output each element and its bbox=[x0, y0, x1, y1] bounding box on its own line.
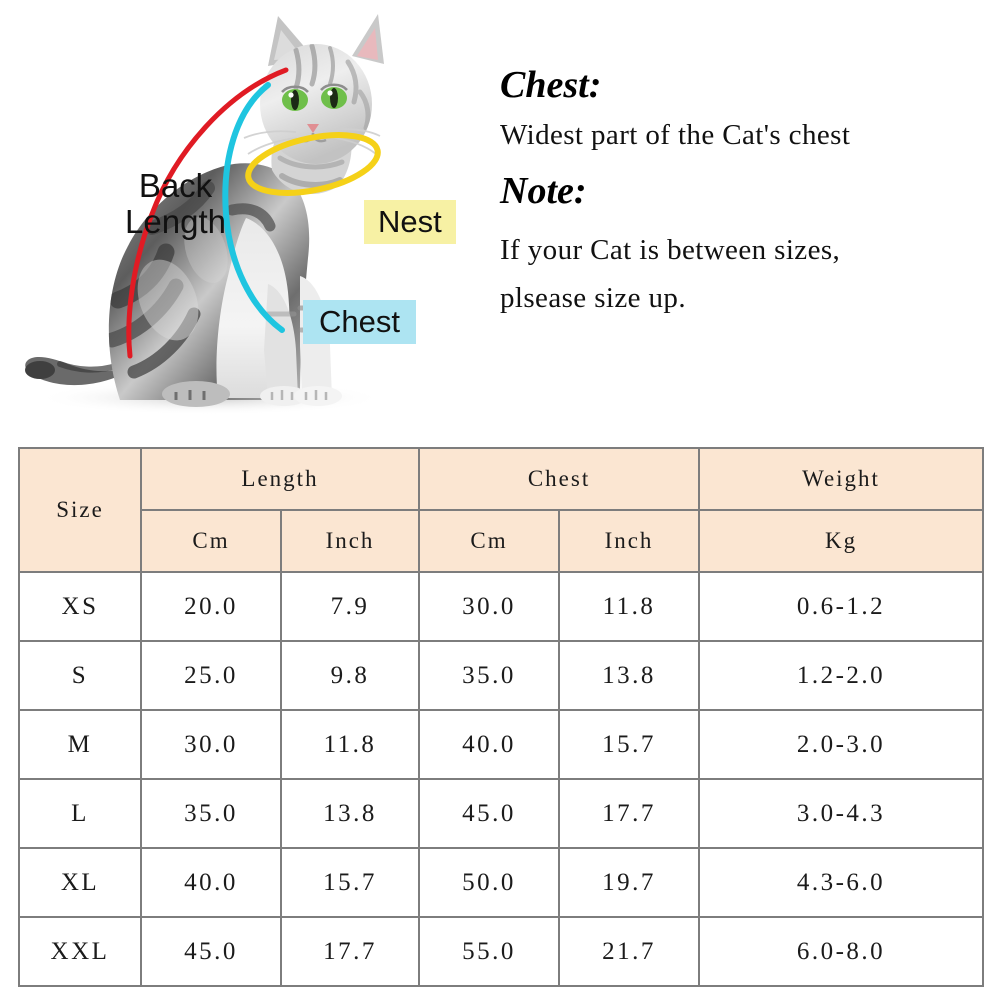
measurement-diagram-panel: Back Length Nest Chest Chest: Widest par… bbox=[0, 0, 1000, 435]
cell-length-inch: 11.8 bbox=[281, 710, 419, 779]
cell-size: XS bbox=[19, 572, 141, 641]
header-length-cm: Cm bbox=[141, 510, 281, 572]
label-back-length: Back Length bbox=[88, 168, 263, 239]
table-row: XS20.07.930.011.80.6-1.2 bbox=[19, 572, 983, 641]
cell-chest-cm: 45.0 bbox=[419, 779, 559, 848]
cell-weight-kg: 6.0-8.0 bbox=[699, 917, 983, 986]
table-header-row-units: Cm Inch Cm Inch Kg bbox=[19, 510, 983, 572]
table-body: XS20.07.930.011.80.6-1.2S25.09.835.013.8… bbox=[19, 572, 983, 986]
chest-description: Widest part of the Cat's chest bbox=[500, 114, 990, 156]
cell-chest-cm: 30.0 bbox=[419, 572, 559, 641]
header-weight-kg: Kg bbox=[699, 510, 983, 572]
cell-chest-cm: 55.0 bbox=[419, 917, 559, 986]
header-chest-inch: Inch bbox=[559, 510, 699, 572]
cell-weight-kg: 3.0-4.3 bbox=[699, 779, 983, 848]
cell-size: XL bbox=[19, 848, 141, 917]
cell-chest-inch: 11.8 bbox=[559, 572, 699, 641]
header-length: Length bbox=[141, 448, 419, 510]
back-length-line-2: Length bbox=[88, 204, 263, 240]
cell-length-inch: 7.9 bbox=[281, 572, 419, 641]
header-size: Size bbox=[19, 448, 141, 572]
table-row: S25.09.835.013.81.2-2.0 bbox=[19, 641, 983, 710]
table-header-row-groups: Size Length Chest Weight bbox=[19, 448, 983, 510]
cell-chest-inch: 13.8 bbox=[559, 641, 699, 710]
table-row: L35.013.845.017.73.0-4.3 bbox=[19, 779, 983, 848]
note-heading: Note: bbox=[500, 168, 990, 216]
table-row: XXL45.017.755.021.76.0-8.0 bbox=[19, 917, 983, 986]
table-head: Size Length Chest Weight Cm Inch Cm Inch… bbox=[19, 448, 983, 572]
cell-size: S bbox=[19, 641, 141, 710]
cell-size: XXL bbox=[19, 917, 141, 986]
header-chest: Chest bbox=[419, 448, 699, 510]
cell-chest-cm: 50.0 bbox=[419, 848, 559, 917]
cell-length-cm: 45.0 bbox=[141, 917, 281, 986]
cell-weight-kg: 0.6-1.2 bbox=[699, 572, 983, 641]
cell-weight-kg: 4.3-6.0 bbox=[699, 848, 983, 917]
table-row: M30.011.840.015.72.0-3.0 bbox=[19, 710, 983, 779]
cell-weight-kg: 2.0-3.0 bbox=[699, 710, 983, 779]
header-length-inch: Inch bbox=[281, 510, 419, 572]
note-line-1: If your Cat is between sizes, bbox=[500, 229, 990, 271]
size-chart-table-wrap: Size Length Chest Weight Cm Inch Cm Inch… bbox=[18, 447, 982, 987]
size-chart-table: Size Length Chest Weight Cm Inch Cm Inch… bbox=[18, 447, 984, 987]
cell-length-cm: 35.0 bbox=[141, 779, 281, 848]
cell-chest-inch: 17.7 bbox=[559, 779, 699, 848]
cell-chest-inch: 21.7 bbox=[559, 917, 699, 986]
cell-length-inch: 9.8 bbox=[281, 641, 419, 710]
cell-length-cm: 30.0 bbox=[141, 710, 281, 779]
header-chest-cm: Cm bbox=[419, 510, 559, 572]
cat-illustration: Back Length Nest Chest bbox=[0, 0, 480, 435]
cell-length-cm: 25.0 bbox=[141, 641, 281, 710]
measurement-info-block: Chest: Widest part of the Cat's chest No… bbox=[500, 62, 990, 319]
cell-chest-inch: 19.7 bbox=[559, 848, 699, 917]
cell-length-cm: 40.0 bbox=[141, 848, 281, 917]
label-nest: Nest bbox=[364, 200, 456, 244]
back-length-line-1: Back bbox=[88, 168, 263, 204]
cell-length-inch: 17.7 bbox=[281, 917, 419, 986]
cell-length-inch: 13.8 bbox=[281, 779, 419, 848]
table-row: XL40.015.750.019.74.3-6.0 bbox=[19, 848, 983, 917]
cell-chest-cm: 35.0 bbox=[419, 641, 559, 710]
cell-length-cm: 20.0 bbox=[141, 572, 281, 641]
cell-size: M bbox=[19, 710, 141, 779]
note-line-2: plsease size up. bbox=[500, 277, 990, 319]
cell-size: L bbox=[19, 779, 141, 848]
label-chest: Chest bbox=[303, 300, 416, 344]
cell-length-inch: 15.7 bbox=[281, 848, 419, 917]
cell-weight-kg: 1.2-2.0 bbox=[699, 641, 983, 710]
cell-chest-inch: 15.7 bbox=[559, 710, 699, 779]
chest-heading: Chest: bbox=[500, 62, 990, 110]
cell-chest-cm: 40.0 bbox=[419, 710, 559, 779]
header-weight: Weight bbox=[699, 448, 983, 510]
